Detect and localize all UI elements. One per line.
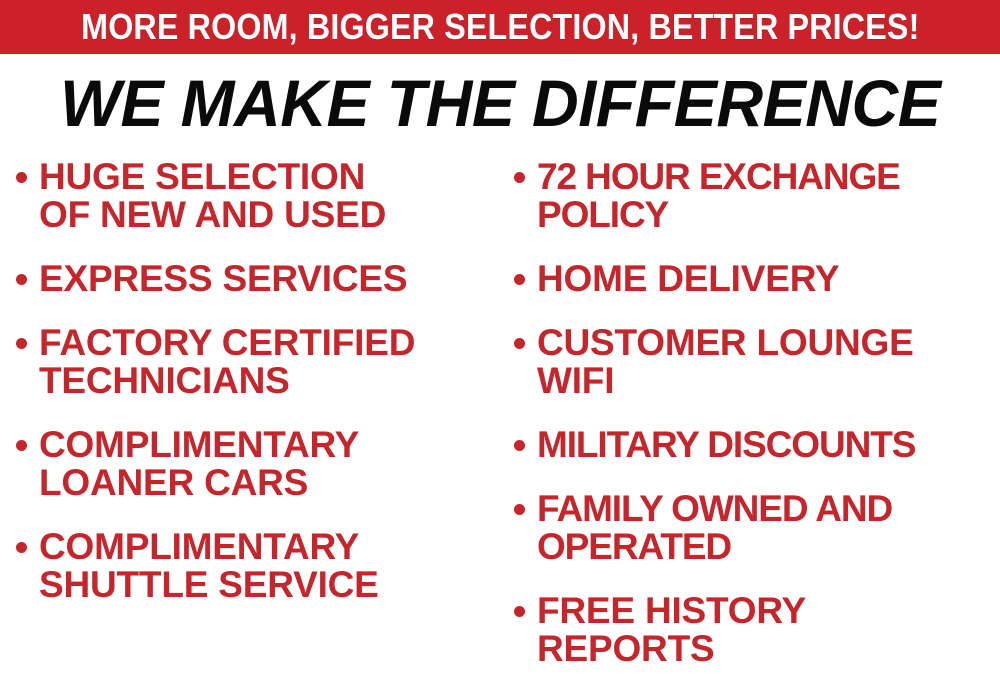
list-item-label: COMPLIMENTARY LOANER CARS <box>39 426 359 502</box>
bullet-dot-icon <box>514 440 525 451</box>
bullet-dot-icon <box>514 274 525 285</box>
list-item-label: EXPRESS SERVICES <box>39 260 407 298</box>
bullet-dot-icon <box>16 172 27 183</box>
list-item-label: HUGE SELECTION OF NEW AND USED <box>39 158 386 234</box>
list-item: COMPLIMENTARY LOANER CARS <box>16 426 496 502</box>
list-item-label: 72 HOUR EXCHANGE POLICY <box>537 158 900 234</box>
bullet-dot-icon <box>514 172 525 183</box>
list-item-label: COMPLIMENTARY SHUTTLE SERVICE <box>39 528 379 604</box>
list-item: COMPLIMENTARY SHUTTLE SERVICE <box>16 528 496 604</box>
list-item-label: MILITARY DISCOUNTS <box>537 426 915 464</box>
benefits-column-left: HUGE SELECTION OF NEW AND USED EXPRESS S… <box>0 158 500 630</box>
headline-container: WE MAKE THE DIFFERENCE <box>0 62 1000 144</box>
bullet-dot-icon <box>16 274 27 285</box>
list-item: FACTORY CERTIFIED TECHNICIANS <box>16 324 496 400</box>
list-item: EXPRESS SERVICES <box>16 260 496 298</box>
list-item: CUSTOMER LOUNGE WIFI <box>514 324 998 400</box>
benefits-columns: HUGE SELECTION OF NEW AND USED EXPRESS S… <box>0 158 1000 694</box>
list-item-label: HOME DELIVERY <box>537 260 839 298</box>
list-item: HUGE SELECTION OF NEW AND USED <box>16 158 496 234</box>
list-item-label: CUSTOMER LOUNGE WIFI <box>537 324 914 400</box>
bullet-dot-icon <box>514 606 525 617</box>
top-banner: MORE ROOM, BIGGER SELECTION, BETTER PRIC… <box>0 0 1000 54</box>
bullet-dot-icon <box>514 338 525 349</box>
list-item: FREE HISTORY REPORTS <box>514 592 998 668</box>
bullet-dot-icon <box>514 504 525 515</box>
bullet-dot-icon <box>16 338 27 349</box>
list-item: HOME DELIVERY <box>514 260 998 298</box>
list-item: MILITARY DISCOUNTS <box>514 426 998 464</box>
banner-headline-text: MORE ROOM, BIGGER SELECTION, BETTER PRIC… <box>81 9 919 45</box>
list-item: FAMILY OWNED AND OPERATED <box>514 490 998 566</box>
promo-poster: MORE ROOM, BIGGER SELECTION, BETTER PRIC… <box>0 0 1000 694</box>
bullet-dot-icon <box>16 542 27 553</box>
bullet-dot-icon <box>16 440 27 451</box>
benefits-column-right: 72 HOUR EXCHANGE POLICY HOME DELIVERY CU… <box>500 158 1000 694</box>
list-item: 72 HOUR EXCHANGE POLICY <box>514 158 998 234</box>
page-title: WE MAKE THE DIFFERENCE <box>60 68 940 138</box>
list-item-label: FREE HISTORY REPORTS <box>537 592 806 668</box>
list-item-label: FAMILY OWNED AND OPERATED <box>537 490 892 566</box>
list-item-label: FACTORY CERTIFIED TECHNICIANS <box>39 324 415 400</box>
